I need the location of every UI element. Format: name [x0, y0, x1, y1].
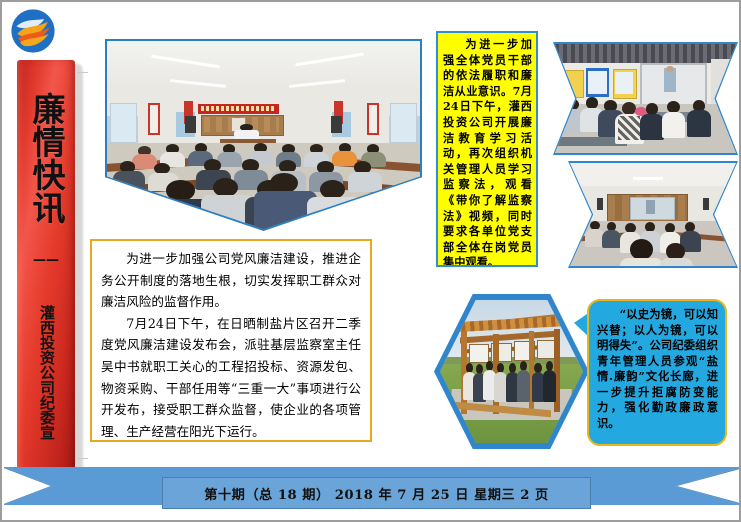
company-logo	[10, 8, 56, 54]
photo-study-session-hall	[553, 42, 738, 155]
photo-video-viewing-room	[568, 161, 738, 268]
photo-culture-corridor-visit	[434, 294, 589, 449]
yellow-note-box: 为进一步加强全体党员干部的依法履职和廉洁从业意识。7月24日下午，灌西投资公司开…	[436, 31, 538, 267]
masthead-title: 廉情快讯	[26, 70, 66, 245]
masthead-body: 廉情快讯 —— 灌西投资公司纪委宣	[17, 60, 75, 482]
yellow-note-text: 为进一步加强全体党员干部的依法履职和廉洁从业意识。7月24日下午，灌西投资公司开…	[443, 37, 532, 267]
footer-plate: 第十期（总 18 期） 2018 年 7 月 25 日 星期三 2 页	[162, 477, 591, 509]
masthead-byline: 灌西投资公司纪委宣	[36, 282, 56, 462]
masthead-clip-bottom	[78, 458, 88, 459]
quote-bubble-text: “以史为镜，可以知兴替；以人为镜，可以明得失”。公司纪委组织青年管理人员参观“盐…	[597, 307, 718, 431]
masthead-clip-top	[78, 72, 88, 73]
newsletter-page: 廉情快讯 —— 灌西投资公司纪委宣	[0, 0, 741, 522]
masthead-banner: 廉情快讯 —— 灌西投资公司纪委宣	[17, 60, 79, 485]
quote-bubble: “以史为镜，可以知兴替；以人为镜，可以明得失”。公司纪委组织青年管理人员参观“盐…	[587, 299, 727, 446]
masthead-dashes: ——	[17, 256, 75, 265]
article-paragraph-1: 为进一步加强公司党风廉洁建设，推进企务公开制度的落地生根，切实发挥职工群众对廉洁…	[101, 248, 361, 313]
article-paragraph-2: 7月24日下午，在日晒制盐片区召开二季度党风廉洁建设发布会，派驻基层监察室主任吴…	[101, 313, 361, 442]
footer-issue-text: 第十期（总 18 期） 2018 年 7 月 25 日 星期三 2 页	[204, 484, 548, 503]
article-text-box: 为进一步加强公司党风廉洁建设，推进企务公开制度的落地生根，切实发挥职工群众对廉洁…	[90, 239, 372, 442]
photo-quarterly-meeting	[105, 39, 422, 231]
